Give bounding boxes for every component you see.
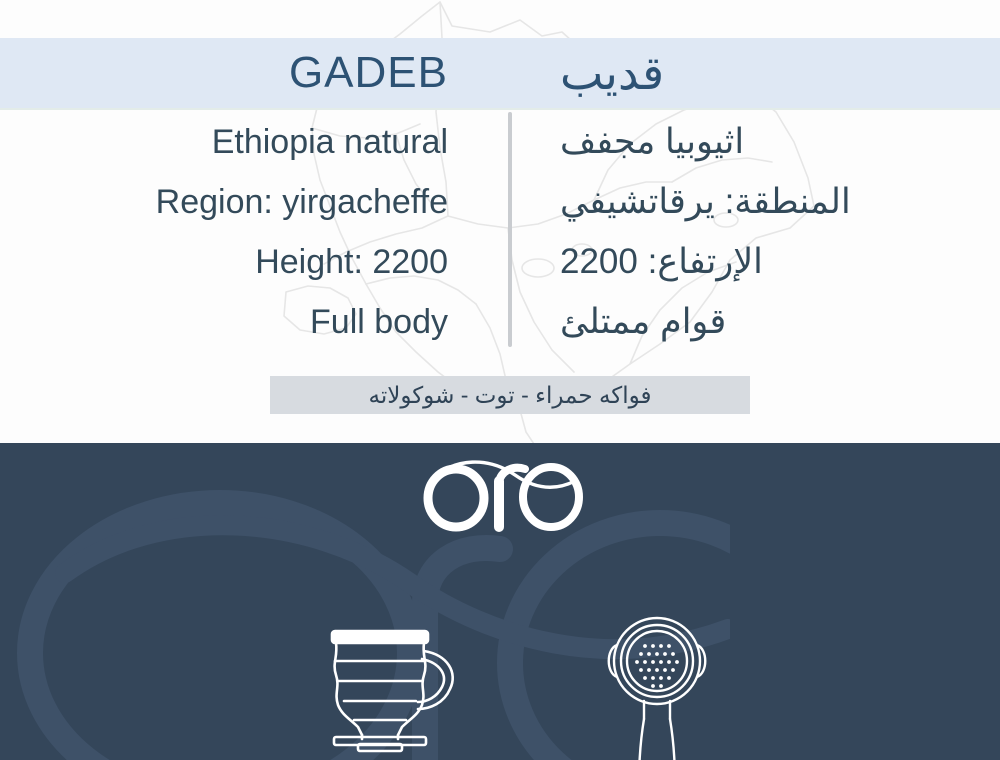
coffee-label-card: GADEB قديب Ethiopia natural Region: yirg… <box>0 0 1000 760</box>
title-english: GADEB <box>0 51 500 95</box>
detail-columns: Ethiopia natural Region: yirgacheffe Hei… <box>0 112 1000 352</box>
detail-region-ar: المنطقة: يرقاتشيفي <box>560 172 1000 232</box>
detail-origin-ar: اثيوبيا مجفف <box>560 112 1000 172</box>
portafilter-icon <box>600 613 715 760</box>
detail-body-en: Full body <box>0 292 448 352</box>
oro-logo-icon <box>415 451 585 533</box>
title-row: GADEB قديب <box>0 38 1000 108</box>
detail-origin-en: Ethiopia natural <box>0 112 448 172</box>
detail-height-ar: الإرتفاع: 2200 <box>560 232 1000 292</box>
brand-section <box>0 443 1000 760</box>
detail-body-ar: قوام ممتلئ <box>560 292 1000 352</box>
detail-region-en: Region: yirgacheffe <box>0 172 448 232</box>
tasting-notes-banner: فواكه حمراء - توت - شوكولاته <box>270 376 750 414</box>
details-arabic: اثيوبيا مجفف المنطقة: يرقاتشيفي الإرتفاع… <box>500 112 1000 352</box>
detail-height-en: Height: 2200 <box>0 232 448 292</box>
info-section: GADEB قديب Ethiopia natural Region: yirg… <box>0 0 1000 443</box>
brew-method-icons <box>0 523 1000 753</box>
details-english: Ethiopia natural Region: yirgacheffe Hei… <box>0 112 500 352</box>
v60-dripper-icon <box>318 623 458 753</box>
title-arabic: قديب <box>500 50 1000 96</box>
tasting-notes-text: فواكه حمراء - توت - شوكولاته <box>369 384 652 407</box>
